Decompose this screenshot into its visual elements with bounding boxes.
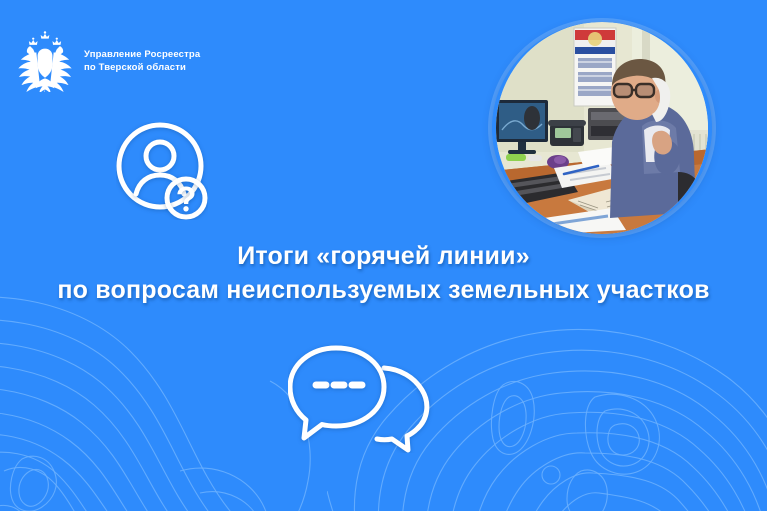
organization-name-line1: Управление Росреестра [84, 48, 200, 61]
employee-photo-illustration [492, 22, 712, 234]
page-title-line2: по вопросам неиспользуемых земельных уча… [0, 273, 767, 307]
page-title: Итоги «горячей линии» по вопросам неиспо… [0, 239, 767, 307]
employee-photo [492, 22, 712, 234]
chat-bubbles-icon [288, 338, 438, 453]
rosreestr-eagle-emblem-icon [14, 30, 76, 92]
organization-name: Управление Росреестра по Тверской област… [84, 48, 200, 74]
organization-name-line2: по Тверской области [84, 61, 200, 74]
organization-logo: Управление Росреестра по Тверской област… [14, 30, 200, 92]
person-question-icon [116, 122, 208, 220]
poster-canvas: Управление Росреестра по Тверской област… [0, 0, 767, 511]
page-title-line1: Итоги «горячей линии» [0, 239, 767, 273]
